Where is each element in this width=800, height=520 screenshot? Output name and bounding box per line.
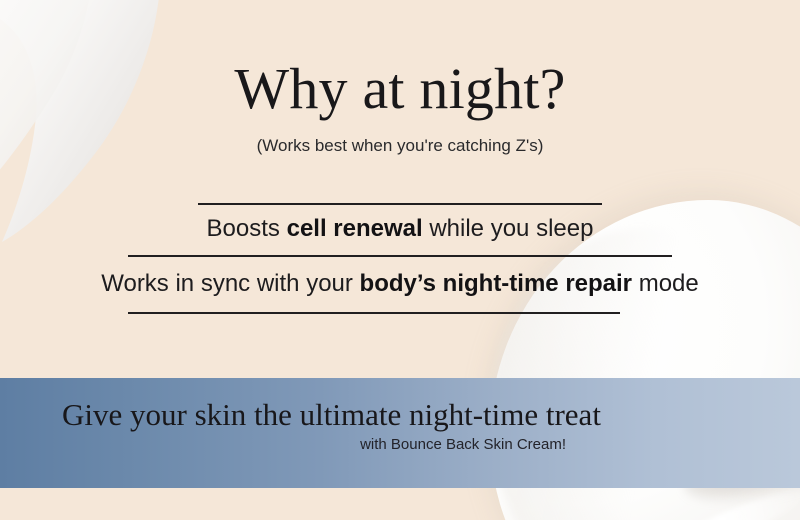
cta-subline: with Bounce Back Skin Cream!	[62, 435, 566, 455]
benefit-1-emphasis: cell renewal	[287, 215, 423, 242]
divider-middle	[128, 255, 672, 257]
benefit-2-suffix: mode	[632, 270, 699, 297]
page-title: Why at night?	[0, 56, 800, 122]
page-subtitle: (Works best when you're catching Z's)	[0, 135, 800, 157]
cta-headline: Give your skin the ultimate night-time t…	[62, 397, 601, 433]
cta-banner: Give your skin the ultimate night-time t…	[0, 378, 800, 488]
benefit-2-prefix: Works in sync with your	[101, 270, 359, 297]
benefit-2-emphasis: body’s night-time repair	[360, 270, 632, 297]
promo-poster: Why at night? (Works best when you're ca…	[0, 0, 800, 520]
benefit-1-prefix: Boosts	[207, 215, 287, 242]
divider-bottom	[128, 312, 620, 314]
divider-top	[198, 203, 602, 205]
benefit-line-2: Works in sync with your body’s night-tim…	[0, 269, 800, 299]
benefit-1-suffix: while you sleep	[423, 215, 594, 242]
benefit-line-1: Boosts cell renewal while you sleep	[0, 214, 800, 244]
